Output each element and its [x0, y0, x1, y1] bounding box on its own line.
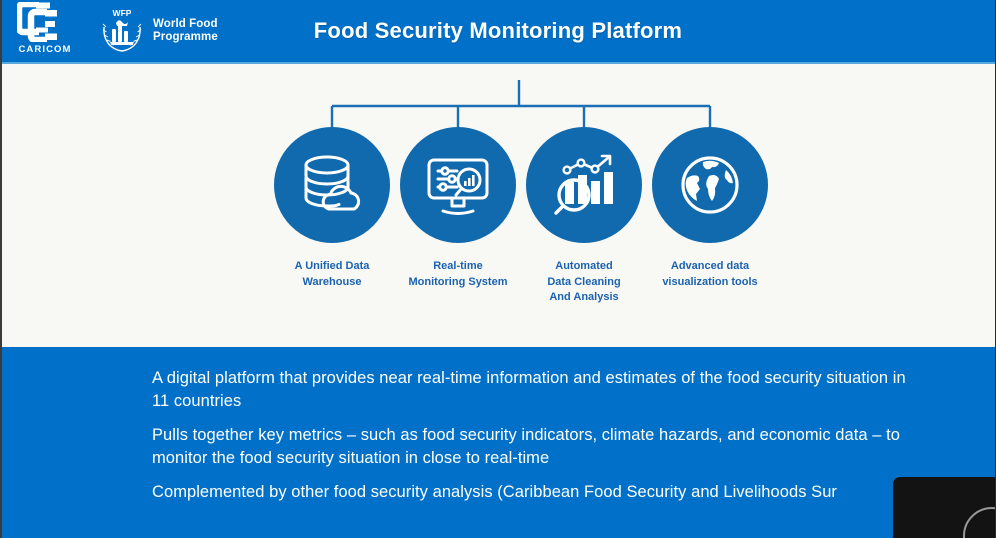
diagram-node-automated-data-cleaning[interactable]: Automated Data Cleaning And Analysis [526, 127, 642, 306]
diagram-node-unified-data-warehouse[interactable]: A Unified Data Warehouse [274, 127, 390, 290]
avatar [963, 507, 996, 538]
bar-chart-magnifier-icon [547, 148, 621, 222]
page-title: Food Security Monitoring Platform [0, 0, 996, 62]
diagram-node-realtime-monitoring-system[interactable]: Real-time Monitoring System [400, 127, 516, 290]
node-circle [400, 127, 516, 243]
description-paragraph: Complemented by other food security anal… [152, 481, 926, 504]
monitor-dashboard-icon [421, 148, 495, 222]
architecture-diagram: A Unified Data Warehouse [0, 64, 996, 347]
slide-header: CARICOM WFP [0, 0, 996, 62]
description-paragraph: Pulls together key metrics – such as foo… [152, 424, 926, 470]
node-circle [652, 127, 768, 243]
description-paragraph: A digital platform that provides near re… [152, 367, 926, 413]
description-panel: A digital platform that provides near re… [0, 347, 996, 538]
node-circle [274, 127, 390, 243]
node-circle [526, 127, 642, 243]
database-cloud-icon [295, 148, 369, 222]
globe-icon [673, 148, 747, 222]
presentation-slide: CARICOM WFP [0, 0, 996, 538]
video-call-thumbnail[interactable] [893, 477, 996, 538]
node-label: Advanced data visualization tools [630, 259, 790, 290]
window-edge-left [0, 0, 2, 538]
diagram-node-advanced-data-visualization[interactable]: Advanced data visualization tools [652, 127, 768, 290]
